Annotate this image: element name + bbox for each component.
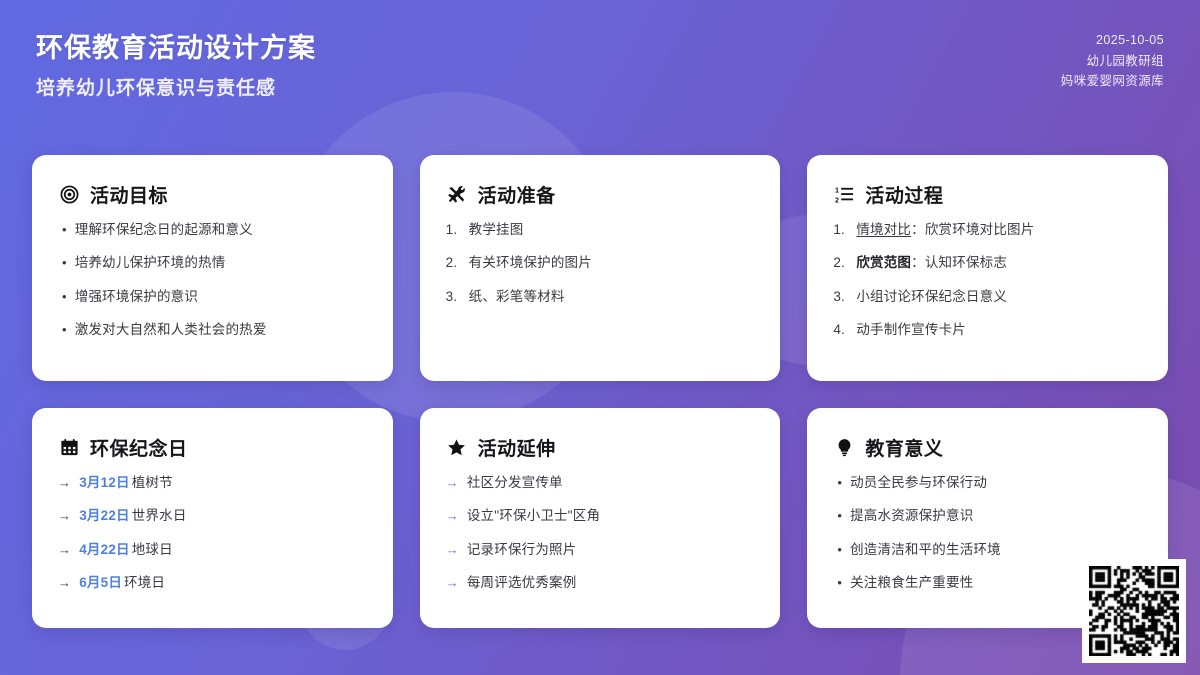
list-item: →每周评选优秀案例 (446, 573, 755, 593)
list-item: •激发对大自然和人类社会的热爱 (58, 320, 367, 340)
memorial-date: 3月12日 (79, 475, 130, 490)
list-item-text: 提高水资源保护意识 (850, 506, 1142, 526)
list-item-text: 设立"环保小卫士"区角 (467, 506, 754, 526)
bullet-icon: • (58, 220, 67, 240)
list-item-text: 激发对大自然和人类社会的热爱 (75, 320, 367, 340)
header-source: 妈咪爱婴网资源库 (1061, 71, 1164, 92)
header-title-block: 环保教育活动设计方案 培养幼儿环保意识与责任感 (36, 30, 316, 104)
bullet-icon: • (833, 473, 842, 493)
list-item-text: 动手制作宣传卡片 (856, 320, 1142, 340)
list-item-text: 4月22日地球日 (79, 540, 366, 560)
card-title: 活动目标 (90, 181, 168, 208)
card-grid: 活动目标 •理解环保纪念日的起源和意义 •培养幼儿保护环境的热情 •增强环境保护… (32, 155, 1168, 628)
memorial-date: 4月22日 (79, 542, 130, 557)
list-item-text: 增强环境保护的意识 (75, 287, 367, 307)
list-item-text: 理解环保纪念日的起源和意义 (75, 220, 367, 240)
tools-icon (446, 184, 468, 206)
card-header: 环保纪念日 (58, 434, 367, 461)
card-header: 活动准备 (446, 181, 755, 208)
memorial-date: 3月22日 (79, 508, 130, 523)
header-meta-block: 2025-10-05 幼儿园教研组 妈咪爱婴网资源库 (1061, 30, 1164, 92)
page-title: 环保教育活动设计方案 (36, 30, 316, 66)
list-item: →社区分发宣传单 (446, 473, 755, 493)
list-item-text: 欣赏范图：认知环保标志 (856, 253, 1142, 273)
calendar-icon (58, 437, 80, 459)
list-item-text: 6月5日环境日 (79, 573, 366, 593)
card-title: 活动准备 (478, 181, 556, 208)
list-marker: 1. (833, 220, 848, 240)
list-item-text: 情境对比：欣赏环境对比图片 (856, 220, 1142, 240)
list-item: •动员全民参与环保行动 (833, 473, 1142, 493)
qr-code (1089, 566, 1179, 656)
lightbulb-icon (833, 437, 855, 459)
header-org: 幼儿园教研组 (1087, 51, 1164, 72)
card-header: 12 活动过程 (833, 181, 1142, 208)
list-item: •增强环境保护的意识 (58, 287, 367, 307)
arrow-icon: → (58, 540, 71, 560)
list-item: 3.小组讨论环保纪念日意义 (833, 287, 1142, 307)
memorial-days-list: →3月12日植树节 →3月22日世界水日 →4月22日地球日 →6月5日环境日 (58, 473, 367, 593)
card-activity-preparation: 活动准备 1.教学挂图 2.有关环境保护的图片 3.纸、彩笔等材料 (420, 155, 781, 381)
list-item-text: 纸、彩笔等材料 (469, 287, 755, 307)
page-header: 环保教育活动设计方案 培养幼儿环保意识与责任感 2025-10-05 幼儿园教研… (0, 0, 1200, 140)
list-item: •理解环保纪念日的起源和意义 (58, 220, 367, 240)
card-activity-goals: 活动目标 •理解环保纪念日的起源和意义 •培养幼儿保护环境的热情 •增强环境保护… (32, 155, 393, 381)
list-item: 4.动手制作宣传卡片 (833, 320, 1142, 340)
arrow-icon: → (446, 573, 459, 593)
list-item: 3.纸、彩笔等材料 (446, 287, 755, 307)
list-item-text: 小组讨论环保纪念日意义 (856, 287, 1142, 307)
list-item-text: 创造清洁和平的生活环境 (850, 540, 1142, 560)
list-marker: 3. (833, 287, 848, 307)
card-header: 活动目标 (58, 181, 367, 208)
memorial-name: 环境日 (124, 575, 165, 590)
list-item: →6月5日环境日 (58, 573, 367, 593)
list-item: 2.有关环境保护的图片 (446, 253, 755, 273)
card-header: 教育意义 (833, 434, 1142, 461)
preparation-list: 1.教学挂图 2.有关环境保护的图片 3.纸、彩笔等材料 (446, 220, 755, 307)
list-item-text: 有关环境保护的图片 (469, 253, 755, 273)
process-step-detail: ：欣赏环境对比图片 (911, 222, 1034, 237)
process-step-detail: ：认知环保标志 (911, 255, 1007, 270)
bullet-icon: • (833, 506, 842, 526)
arrow-icon: → (58, 506, 71, 526)
card-title: 环保纪念日 (90, 434, 188, 461)
memorial-name: 植树节 (132, 475, 173, 490)
card-title: 活动过程 (865, 181, 943, 208)
list-item: →3月12日植树节 (58, 473, 367, 493)
numbered-list-icon: 12 (833, 184, 855, 206)
list-item-text: 动员全民参与环保行动 (850, 473, 1142, 493)
list-marker: 3. (446, 287, 461, 307)
list-item-text: 社区分发宣传单 (467, 473, 754, 493)
extension-list: →社区分发宣传单 →设立"环保小卫士"区角 →记录环保行为照片 →每周评选优秀案… (446, 473, 755, 593)
arrow-icon: → (446, 473, 459, 493)
process-step-lead: 情境对比 (856, 222, 911, 237)
card-eco-memorial-days: 环保纪念日 →3月12日植树节 →3月22日世界水日 →4月22日地球日 →6月… (32, 408, 393, 628)
list-item: →设立"环保小卫士"区角 (446, 506, 755, 526)
list-marker: 2. (446, 253, 461, 273)
process-list: 1.情境对比：欣赏环境对比图片 2.欣赏范图：认知环保标志 3.小组讨论环保纪念… (833, 220, 1142, 340)
arrow-icon: → (58, 473, 71, 493)
list-item: 2.欣赏范图：认知环保标志 (833, 253, 1142, 273)
list-item: 1.情境对比：欣赏环境对比图片 (833, 220, 1142, 240)
list-item-text: 培养幼儿保护环境的热情 (75, 253, 367, 273)
bullet-icon: • (833, 573, 842, 593)
star-icon (446, 437, 468, 459)
list-item-text: 3月12日植树节 (79, 473, 366, 493)
card-activity-process: 12 活动过程 1.情境对比：欣赏环境对比图片 2.欣赏范图：认知环保标志 3.… (807, 155, 1168, 381)
svg-text:1: 1 (835, 187, 839, 195)
card-activity-extension: 活动延伸 →社区分发宣传单 →设立"环保小卫士"区角 →记录环保行为照片 →每周… (420, 408, 781, 628)
list-item: →4月22日地球日 (58, 540, 367, 560)
arrow-icon: → (446, 506, 459, 526)
memorial-name: 地球日 (132, 542, 173, 557)
list-item: •提高水资源保护意识 (833, 506, 1142, 526)
header-date: 2025-10-05 (1096, 30, 1164, 51)
list-item: •创造清洁和平的生活环境 (833, 540, 1142, 560)
list-marker: 4. (833, 320, 848, 340)
list-item-text: 教学挂图 (469, 220, 755, 240)
card-title: 活动延伸 (478, 434, 556, 461)
list-item: →记录环保行为照片 (446, 540, 755, 560)
memorial-name: 世界水日 (132, 508, 187, 523)
list-item: 1.教学挂图 (446, 220, 755, 240)
svg-text:2: 2 (835, 197, 839, 204)
list-item-text: 记录环保行为照片 (467, 540, 754, 560)
bullet-icon: • (58, 287, 67, 307)
memorial-date: 6月5日 (79, 575, 122, 590)
goals-list: •理解环保纪念日的起源和意义 •培养幼儿保护环境的热情 •增强环境保护的意识 •… (58, 220, 367, 340)
list-item: →3月22日世界水日 (58, 506, 367, 526)
arrow-icon: → (446, 540, 459, 560)
process-step-lead: 欣赏范图 (856, 255, 911, 270)
list-item-text: 每周评选优秀案例 (467, 573, 754, 593)
bullet-icon: • (58, 253, 67, 273)
list-marker: 2. (833, 253, 848, 273)
list-marker: 1. (446, 220, 461, 240)
list-item: •培养幼儿保护环境的热情 (58, 253, 367, 273)
card-title: 教育意义 (865, 434, 943, 461)
card-header: 活动延伸 (446, 434, 755, 461)
bullet-icon: • (58, 320, 67, 340)
qr-code-container (1082, 559, 1186, 663)
arrow-icon: → (58, 573, 71, 593)
list-item-text: 3月22日世界水日 (79, 506, 366, 526)
target-icon (58, 184, 80, 206)
bullet-icon: • (833, 540, 842, 560)
page-subtitle: 培养幼儿环保意识与责任感 (36, 75, 316, 104)
